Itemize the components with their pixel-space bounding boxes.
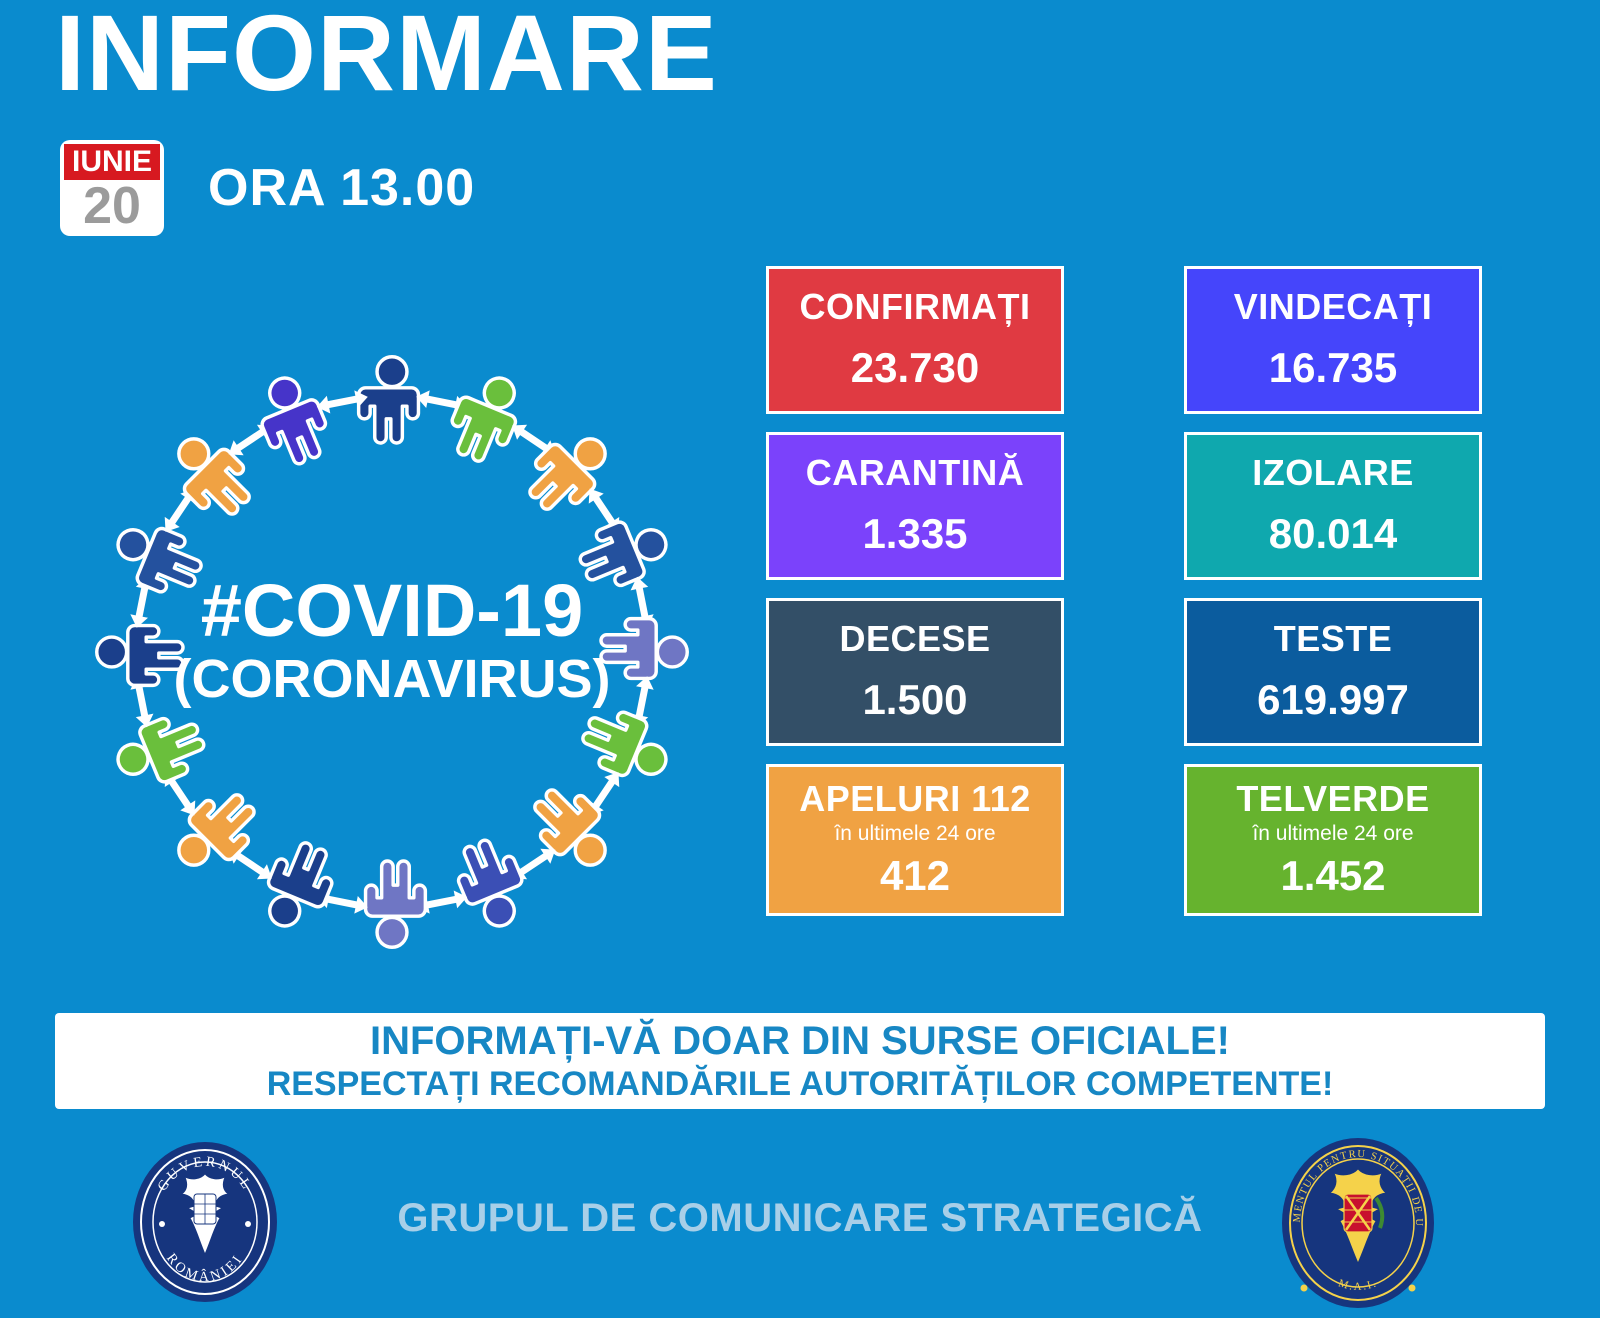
card-value: 619.997 (1193, 677, 1473, 723)
card-sublabel: în ultimele 24 ore (1193, 821, 1473, 847)
card-value: 23.730 (775, 345, 1055, 391)
stats-row: CARANTINĂ 1.335 IZOLARE 80.014 (766, 432, 1482, 580)
card-value: 1.452 (1193, 853, 1473, 899)
page-title: INFORMARE (55, 0, 718, 109)
card-telverde: TELVERDE în ultimele 24 ore 1.452 (1184, 764, 1482, 916)
calendar-day: 20 (64, 180, 160, 232)
person-figure (97, 626, 183, 686)
card-confirmati: CONFIRMAȚI 23.730 (766, 266, 1064, 414)
official-sources-banner: INFORMAȚI-VĂ DOAR DIN SURSE OFICIALE! RE… (55, 1013, 1545, 1109)
card-value: 1.500 (775, 677, 1055, 723)
card-label: TELVERDE (1193, 779, 1473, 819)
card-teste: TESTE 619.997 (1184, 598, 1482, 746)
card-label: APELURI 112 (775, 779, 1055, 819)
person-figure (441, 366, 529, 469)
calendar-month: IUNIE (64, 144, 160, 180)
stats-row: CONFIRMAȚI 23.730 VINDECAȚI 16.735 (766, 266, 1482, 414)
card-label: VINDECAȚI (1193, 287, 1473, 327)
card-apeluri-112: APELURI 112 în ultimele 24 ore 412 (766, 764, 1064, 916)
guvernul-romaniei-seal-icon: GUVERNUL ROMÂNIEI (130, 1140, 280, 1310)
stats-grid: CONFIRMAȚI 23.730 VINDECAȚI 16.735 CARAN… (766, 266, 1482, 934)
card-decese: DECESE 1.500 (766, 598, 1064, 746)
person-figure (359, 357, 419, 443)
card-vindecati: VINDECAȚI 16.735 (1184, 266, 1482, 414)
date-bar: IUNIE 20 ORA 13.00 (60, 140, 475, 236)
infographic-root: INFORMARE IUNIE 20 ORA 13.00 #COVID-19 (… (0, 0, 1600, 1318)
person-figure (575, 701, 678, 789)
person-figure (109, 708, 212, 796)
person-figure (601, 619, 687, 679)
card-label: DECESE (775, 619, 1055, 659)
card-label: IZOLARE (1193, 453, 1473, 493)
stats-row: APELURI 112 în ultimele 24 ore 412 TELVE… (766, 764, 1482, 916)
footer: GUVERNUL ROMÂNIEI (0, 1128, 1600, 1318)
card-label: TESTE (1193, 619, 1473, 659)
people-circle-svg (62, 322, 722, 982)
card-carantina: CARANTINĂ 1.335 (766, 432, 1064, 580)
people-circle-icon: #COVID-19 (CORONAVIRUS) (62, 322, 722, 982)
person-figure (248, 369, 336, 472)
card-izolare: IZOLARE 80.014 (1184, 432, 1482, 580)
card-sublabel: în ultimele 24 ore (775, 821, 1055, 847)
card-value: 16.735 (1193, 345, 1473, 391)
report-hour: ORA 13.00 (208, 158, 475, 218)
person-figure (572, 508, 675, 596)
person-figure (448, 832, 536, 935)
card-label: CARANTINĂ (775, 453, 1055, 493)
stats-row: DECESE 1.500 TESTE 619.997 (766, 598, 1482, 746)
calendar-icon: IUNIE 20 (60, 140, 164, 236)
person-figure (255, 835, 343, 938)
dsu-mai-seal-icon: DEPARTAMENTUL PENTRU SITUAȚII DE URGENȚĂ… (1278, 1136, 1438, 1316)
footer-organization: GRUPUL DE COMUNICARE STRATEGICĂ (330, 1196, 1270, 1241)
notice-line-2: RESPECTAȚI RECOMANDĂRILE AUTORITĂȚILOR C… (267, 1064, 1334, 1104)
card-label: CONFIRMAȚI (775, 287, 1055, 327)
person-figure (106, 515, 209, 603)
card-value: 1.335 (775, 511, 1055, 557)
card-value: 412 (775, 853, 1055, 899)
card-value: 80.014 (1193, 511, 1473, 557)
person-figure (366, 861, 426, 947)
notice-line-1: INFORMAȚI-VĂ DOAR DIN SURSE OFICIALE! (370, 1018, 1230, 1064)
